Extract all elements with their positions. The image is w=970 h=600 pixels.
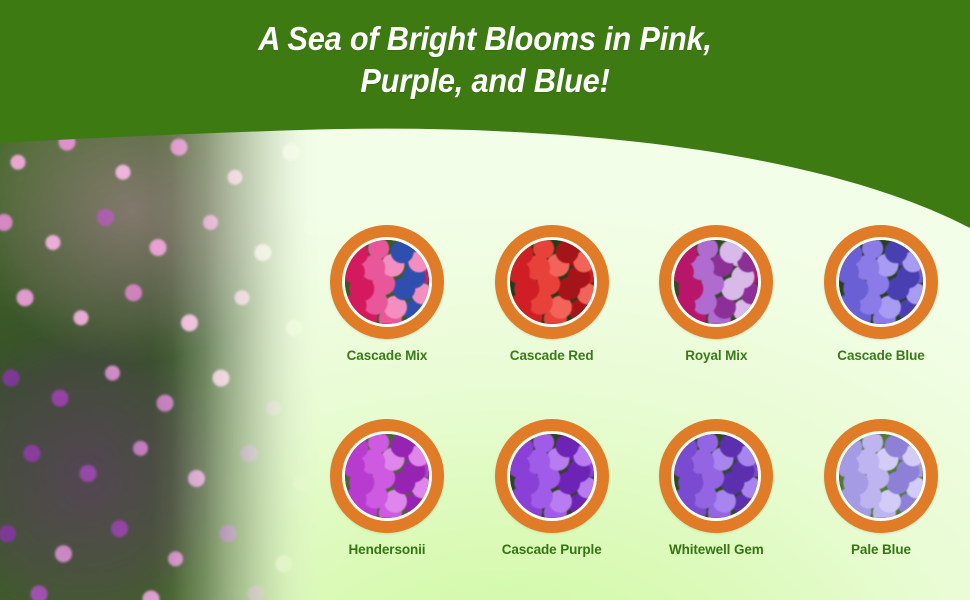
variety-cascade-blue[interactable]: Cascade Blue <box>806 225 956 363</box>
variety-photo-frame <box>342 431 432 521</box>
variety-photo-frame <box>671 431 761 521</box>
variety-cascade-red[interactable]: Cascade Red <box>477 225 627 363</box>
cascade-blue-bloom <box>839 240 923 324</box>
variety-whitewell-gem[interactable]: Whitewell Gem <box>641 419 791 557</box>
variety-row-1: Cascade Mix Cascade Red Royal Mix <box>312 225 956 363</box>
variety-photo-frame <box>836 431 926 521</box>
cascade-purple-bloom <box>510 434 594 518</box>
variety-label: Cascade Mix <box>347 348 428 363</box>
variety-label: Pale Blue <box>851 542 911 557</box>
headline-line-2: Purple, and Blue! <box>34 60 936 102</box>
variety-hendersonii[interactable]: Hendersonii <box>312 419 462 557</box>
cascade-red-bloom <box>510 240 594 324</box>
variety-ring <box>824 225 938 339</box>
variety-ring <box>659 419 773 533</box>
photo-fade-overlay <box>0 126 330 600</box>
cascade-mix-bloom <box>345 240 429 324</box>
variety-cascade-mix[interactable]: Cascade Mix <box>312 225 462 363</box>
variety-label: Cascade Red <box>510 348 594 363</box>
variety-label: Hendersonii <box>349 542 426 557</box>
variety-ring <box>495 225 609 339</box>
variety-label: Cascade Purple <box>502 542 602 557</box>
variety-grid: Cascade Mix Cascade Red Royal Mix <box>312 225 956 557</box>
variety-photo-frame <box>836 237 926 327</box>
variety-ring <box>330 419 444 533</box>
variety-label: Cascade Blue <box>837 348 924 363</box>
variety-ring <box>659 225 773 339</box>
hendersonii-bloom <box>345 434 429 518</box>
royal-mix-bloom <box>674 240 758 324</box>
variety-label: Whitewell Gem <box>669 542 764 557</box>
variety-ring <box>495 419 609 533</box>
pale-blue-bloom <box>839 434 923 518</box>
whitewell-gem-bloom <box>674 434 758 518</box>
flower-variety-banner: A Sea of Bright Blooms in Pink, Purple, … <box>0 0 970 600</box>
headline-line-1: A Sea of Bright Blooms in Pink, <box>34 18 936 60</box>
variety-photo-frame <box>671 237 761 327</box>
variety-row-2: Hendersonii Cascade Purple Whitewell Gem <box>312 419 956 557</box>
variety-label: Royal Mix <box>685 348 747 363</box>
variety-pale-blue[interactable]: Pale Blue <box>806 419 956 557</box>
page-title: A Sea of Bright Blooms in Pink, Purple, … <box>34 18 936 102</box>
variety-ring <box>330 225 444 339</box>
variety-photo-frame <box>507 237 597 327</box>
aubrieta-flower-bed-photo <box>0 126 330 600</box>
variety-photo-frame <box>342 237 432 327</box>
variety-royal-mix[interactable]: Royal Mix <box>641 225 791 363</box>
variety-ring <box>824 419 938 533</box>
variety-cascade-purple[interactable]: Cascade Purple <box>477 419 627 557</box>
variety-photo-frame <box>507 431 597 521</box>
